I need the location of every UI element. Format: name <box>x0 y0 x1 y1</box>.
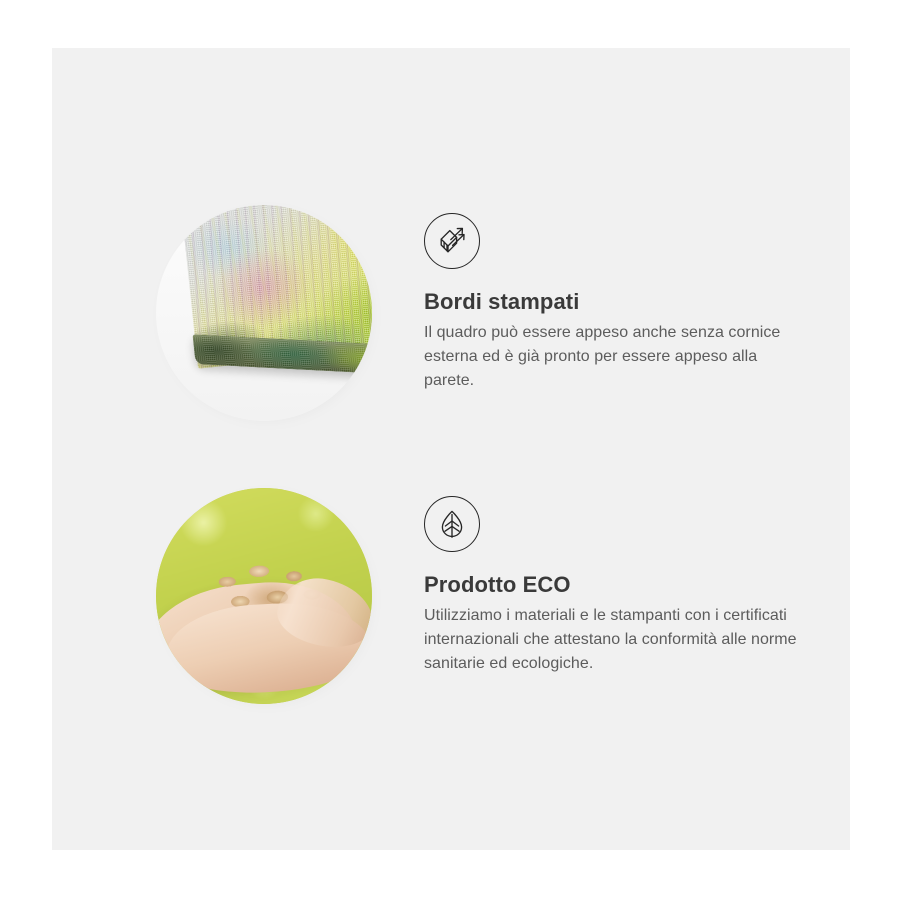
feature-title: Prodotto ECO <box>424 572 804 598</box>
feature-content-printed-edges: Bordi stampati Il quadro può essere appe… <box>424 195 804 392</box>
feature-block-eco-product: Prodotto ECO Utilizziamo i materiali e l… <box>152 478 804 708</box>
feature-block-printed-edges: Bordi stampati Il quadro può essere appe… <box>152 195 804 425</box>
leaf-icon-glyph <box>436 508 468 540</box>
feature-media-eco <box>152 478 382 708</box>
wood-chips-in-hands-photo <box>156 488 372 704</box>
feature-content-eco-product: Prodotto ECO Utilizziamo i materiali e l… <box>424 478 804 675</box>
printed-edges-icon-glyph <box>435 224 469 258</box>
page-root: Bordi stampati Il quadro può essere appe… <box>0 0 900 900</box>
content-panel: Bordi stampati Il quadro può essere appe… <box>52 48 850 850</box>
feature-description: Il quadro può essere appeso anche senza … <box>424 321 804 392</box>
printed-edges-icon <box>424 213 480 269</box>
canvas-artwork <box>181 205 372 421</box>
canvas-corner-photo <box>156 205 372 421</box>
feature-media-canvas <box>152 195 382 425</box>
leaf-icon <box>424 496 480 552</box>
feature-title: Bordi stampati <box>424 289 804 315</box>
feature-description: Utilizziamo i materiali e le stampanti c… <box>424 604 804 675</box>
